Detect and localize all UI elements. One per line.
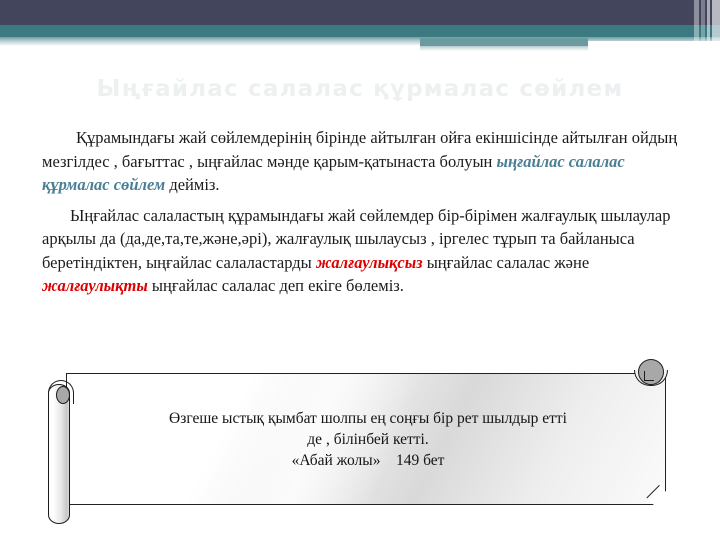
header-strip-2 (701, 0, 705, 52)
paragraph2-highlight-term-1: жалғаулықсыз (316, 253, 423, 272)
header-teal-band (0, 25, 720, 37)
page-title: Ыңғайлас салалас құрмалас сөйлем (0, 76, 720, 102)
quote-scroll: Өзгеше ыстық қымбат шолпы ең соңғы бір р… (38, 358, 686, 538)
header-secondary-gradient (420, 46, 588, 51)
paragraph-definition: Құрамындағы жай сөйлемдерінің бірінде ай… (42, 126, 682, 197)
header-strip-1 (694, 0, 699, 52)
header-strip-4 (712, 0, 720, 52)
scroll-left-roll-cap-icon (56, 386, 70, 404)
quote-line-2: де , білінбей кетті. (90, 429, 646, 450)
quote-source: «Абай жолы» 149 бет (90, 450, 646, 471)
scroll-left-roll (48, 384, 70, 524)
paragraph2-highlight-term-2: жалғаулықты (42, 276, 148, 295)
body-copy: Құрамындағы жай сөйлемдерінің бірінде ай… (42, 126, 682, 302)
paragraph2-text-part2: ыңғайлас салалас және (423, 253, 590, 272)
header-vertical-strips (694, 0, 720, 52)
paragraph-classification: Ыңғайлас салаластың құрамындағы жай сөйл… (42, 204, 682, 298)
quote-text: Өзгеше ыстық қымбат шолпы ең соңғы бір р… (90, 408, 646, 471)
paragraph2-text-part3: ыңғайлас салалас деп екіге бөлеміз. (148, 276, 404, 295)
header-secondary-teal-band (420, 38, 588, 46)
quote-line-1: Өзгеше ыстық қымбат шолпы ең соңғы бір р… (90, 408, 646, 429)
header-navy-band (0, 0, 720, 25)
header-strip-3 (707, 0, 710, 52)
scroll-right-roll-tick-icon (644, 371, 654, 381)
slide-canvas: Ыңғайлас салалас құрмалас сөйлем Құрамын… (0, 0, 720, 540)
paragraph1-text-part2: дейміз. (165, 175, 219, 194)
